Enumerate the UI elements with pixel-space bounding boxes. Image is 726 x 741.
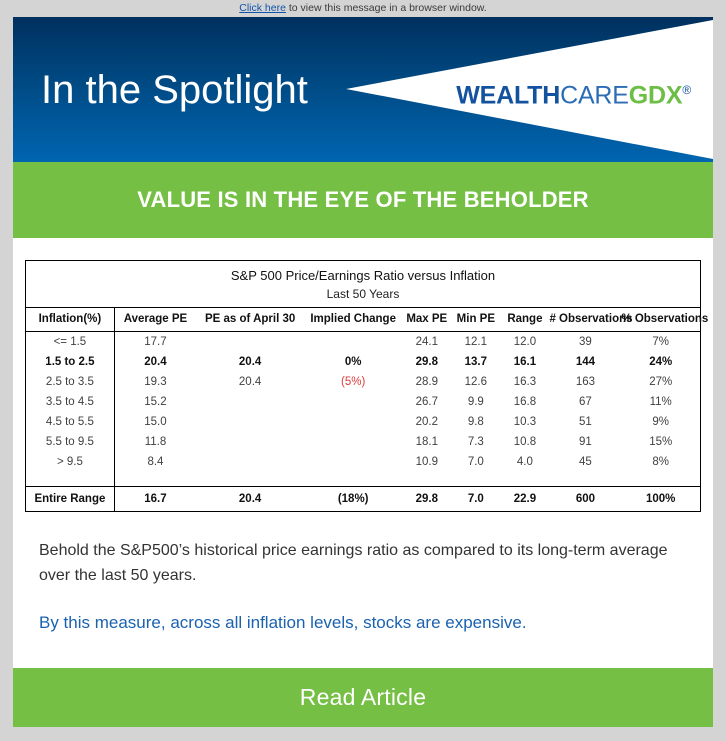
cell-inflation: > 9.5	[26, 452, 114, 472]
cell-pe-april-30	[196, 412, 304, 432]
read-article-button[interactable]: Read Article	[13, 668, 713, 727]
cell-observations: 144	[549, 352, 621, 372]
cell-min-pe: 9.9	[451, 392, 500, 412]
logo-part-care: CARE	[560, 81, 629, 109]
hero-title: In the Spotlight	[41, 67, 308, 113]
cell-average-pe: 15.0	[114, 412, 196, 432]
cell-range: 4.0	[500, 452, 549, 472]
cell-inflation: 4.5 to 5.5	[26, 412, 114, 432]
cell-min-pe: 7.3	[451, 432, 500, 452]
column-header-implied-change: Implied Change	[304, 308, 402, 332]
pe-ratio-table-container: S&P 500 Price/Earnings Ratio versus Infl…	[25, 260, 701, 512]
table-subtitle-row: Last 50 Years	[26, 286, 700, 308]
cell-observations: 45	[549, 452, 621, 472]
cell-implied-change: (18%)	[304, 487, 402, 512]
cell-min-pe: 12.6	[451, 372, 500, 392]
table-subtitle: Last 50 Years	[26, 286, 700, 308]
column-header-observations: # Observations	[549, 308, 621, 332]
cell-implied-change	[304, 432, 402, 452]
cell-pe-april-30	[196, 452, 304, 472]
column-header-average-pe: Average PE	[114, 308, 196, 332]
cell-range: 12.0	[500, 332, 549, 353]
view-in-browser-link[interactable]: Click here	[239, 2, 286, 14]
cell-pct-observations: 24%	[621, 352, 700, 372]
cell-implied-change: (5%)	[304, 372, 402, 392]
cell-pe-april-30: 20.4	[196, 487, 304, 512]
cell-min-pe: 7.0	[451, 452, 500, 472]
column-header-max-pe: Max PE	[402, 308, 451, 332]
cell-average-pe: 15.2	[114, 392, 196, 412]
cell-max-pe: 28.9	[402, 372, 451, 392]
cell-pe-april-30	[196, 332, 304, 353]
brand-logo: WEALTHCAREGDX®	[456, 77, 691, 108]
column-header-pe-april-30: PE as of April 30	[196, 308, 304, 332]
cell-average-pe: 19.3	[114, 372, 196, 392]
preheader-bar: Click here to view this message in a bro…	[0, 0, 726, 17]
paragraph-conclusion: By this measure, across all inflation le…	[39, 610, 687, 635]
cell-pct-observations: 9%	[621, 412, 700, 432]
table-row: 1.5 to 2.520.420.40%29.813.716.114424%	[26, 352, 700, 372]
cell-max-pe: 10.9	[402, 452, 451, 472]
cell-pct-observations: 100%	[621, 487, 700, 512]
cell-average-pe: 20.4	[114, 352, 196, 372]
cell-pct-observations: 11%	[621, 392, 700, 412]
read-article-label: Read Article	[300, 684, 426, 711]
cell-range: 22.9	[500, 487, 549, 512]
table-total-row: Entire Range16.720.4(18%)29.87.022.96001…	[26, 487, 700, 512]
cell-pe-april-30: 20.4	[196, 352, 304, 372]
cell-observations: 163	[549, 372, 621, 392]
table-gap-row	[26, 472, 700, 487]
cell-max-pe: 20.2	[402, 412, 451, 432]
table-row: 5.5 to 9.511.818.17.310.89115%	[26, 432, 700, 452]
column-header-range: Range	[500, 308, 549, 332]
email-content-column: In the Spotlight WEALTHCAREGDX® VALUE IS…	[13, 17, 713, 727]
spacer	[13, 635, 713, 668]
cell-max-pe: 29.8	[402, 352, 451, 372]
table-row: 3.5 to 4.515.226.79.916.86711%	[26, 392, 700, 412]
cell-range: 16.3	[500, 372, 549, 392]
cell-max-pe: 18.1	[402, 432, 451, 452]
logo-part-gdx: GDX	[629, 81, 683, 109]
cell-range: 10.8	[500, 432, 549, 452]
body-area: S&P 500 Price/Earnings Ratio versus Infl…	[13, 238, 713, 668]
cell-max-pe: 26.7	[402, 392, 451, 412]
cell-average-pe: 11.8	[114, 432, 196, 452]
cell-inflation: 1.5 to 2.5	[26, 352, 114, 372]
cell-average-pe: 16.7	[114, 487, 196, 512]
cell-pct-observations: 8%	[621, 452, 700, 472]
cell-implied-change	[304, 452, 402, 472]
cell-inflation: Entire Range	[26, 487, 114, 512]
cell-observations: 39	[549, 332, 621, 353]
cell-min-pe: 13.7	[451, 352, 500, 372]
table-row: 2.5 to 3.519.320.4(5%)28.912.616.316327%	[26, 372, 700, 392]
cell-range: 16.1	[500, 352, 549, 372]
cell-pct-observations: 15%	[621, 432, 700, 452]
table-row: 4.5 to 5.515.020.29.810.3519%	[26, 412, 700, 432]
cell-implied-change	[304, 392, 402, 412]
cell-inflation: <= 1.5	[26, 332, 114, 353]
cell-min-pe: 12.1	[451, 332, 500, 353]
cell-pe-april-30	[196, 392, 304, 412]
pe-ratio-table: S&P 500 Price/Earnings Ratio versus Infl…	[26, 261, 700, 511]
cell-observations: 600	[549, 487, 621, 512]
cell-pct-observations: 7%	[621, 332, 700, 353]
cell-implied-change	[304, 332, 402, 353]
table-title: S&P 500 Price/Earnings Ratio versus Infl…	[26, 261, 700, 286]
hero-banner: In the Spotlight WEALTHCAREGDX®	[13, 17, 713, 162]
table-row: > 9.58.410.97.04.0458%	[26, 452, 700, 472]
cell-max-pe: 24.1	[402, 332, 451, 353]
registered-trademark-icon: ®	[682, 83, 691, 97]
cell-implied-change	[304, 412, 402, 432]
preheader-rest-text: to view this message in a browser window…	[286, 2, 487, 14]
cell-pct-observations: 27%	[621, 372, 700, 392]
table-header-row: Inflation(%) Average PE PE as of April 3…	[26, 308, 700, 332]
cell-average-pe: 8.4	[114, 452, 196, 472]
cell-observations: 91	[549, 432, 621, 452]
cell-min-pe: 9.8	[451, 412, 500, 432]
cell-inflation: 5.5 to 9.5	[26, 432, 114, 452]
table-row: <= 1.517.724.112.112.0397%	[26, 332, 700, 353]
cell-range: 16.8	[500, 392, 549, 412]
table-title-row: S&P 500 Price/Earnings Ratio versus Infl…	[26, 261, 700, 286]
cell-pe-april-30	[196, 432, 304, 452]
cell-spacer	[26, 472, 114, 487]
cell-range: 10.3	[500, 412, 549, 432]
cell-observations: 67	[549, 392, 621, 412]
cell-pe-april-30: 20.4	[196, 372, 304, 392]
cell-inflation: 2.5 to 3.5	[26, 372, 114, 392]
headline-band: VALUE IS IN THE EYE OF THE BEHOLDER	[13, 162, 713, 238]
paragraph-intro: Behold the S&P500’s historical price ear…	[39, 538, 687, 588]
cell-spacer	[114, 472, 700, 487]
table-body: <= 1.517.724.112.112.0397%1.5 to 2.520.4…	[26, 332, 700, 512]
cell-observations: 51	[549, 412, 621, 432]
article-copy: Behold the S&P500’s historical price ear…	[13, 512, 713, 635]
cell-max-pe: 29.8	[402, 487, 451, 512]
column-header-pct-observations: % Observations	[621, 308, 700, 332]
column-header-min-pe: Min PE	[451, 308, 500, 332]
cell-average-pe: 17.7	[114, 332, 196, 353]
spacer	[13, 238, 713, 260]
cell-implied-change: 0%	[304, 352, 402, 372]
footer-gap	[0, 727, 726, 741]
logo-part-wealth: WEALTH	[456, 81, 560, 109]
email-page: Click here to view this message in a bro…	[0, 0, 726, 680]
cell-min-pe: 7.0	[451, 487, 500, 512]
cell-inflation: 3.5 to 4.5	[26, 392, 114, 412]
headline-text: VALUE IS IN THE EYE OF THE BEHOLDER	[137, 187, 589, 213]
column-header-inflation: Inflation(%)	[26, 308, 114, 332]
